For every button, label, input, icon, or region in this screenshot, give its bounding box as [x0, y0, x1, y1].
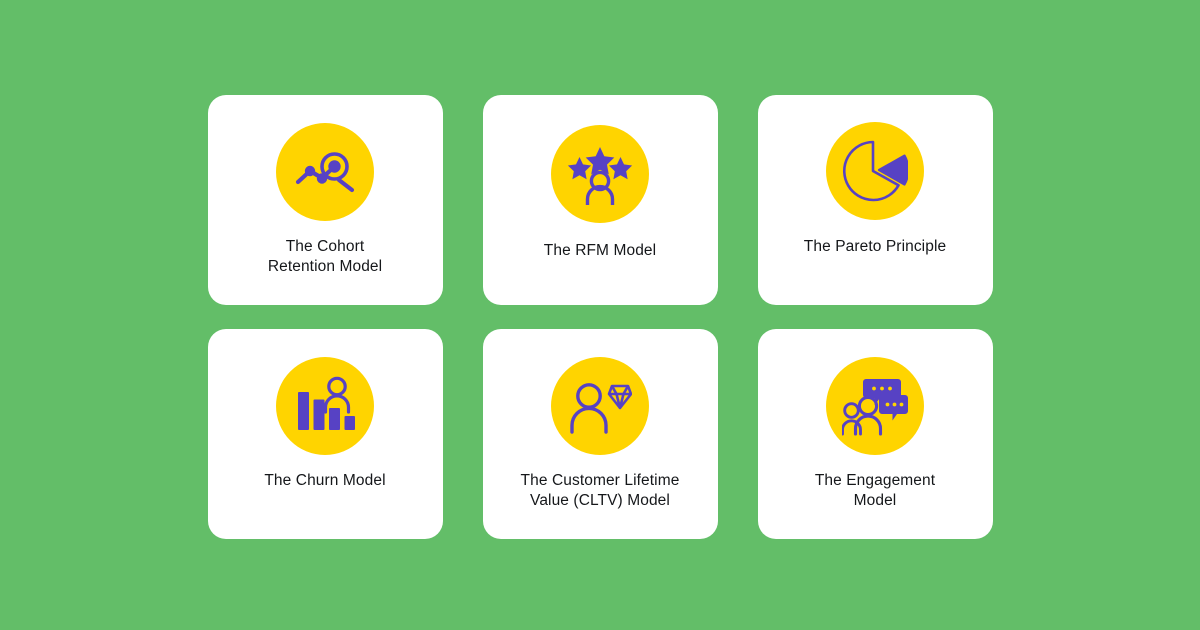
- icon-badge: [551, 125, 649, 223]
- card-customer-lifetime-value-model[interactable]: The Customer Lifetime Value (CLTV) Model: [483, 329, 718, 539]
- star-icon: [568, 147, 632, 179]
- icon-badge: [551, 357, 649, 455]
- line-chart-magnifier-icon: [292, 139, 358, 205]
- card-churn-model[interactable]: The Churn Model: [208, 329, 443, 539]
- card-label: The RFM Model: [544, 241, 656, 261]
- card-label: The Customer Lifetime Value (CLTV) Model: [521, 471, 680, 512]
- model-card-grid: The Cohort Retention Model The RFM Mo: [0, 0, 1200, 630]
- card-rfm-model[interactable]: The RFM Model: [483, 95, 718, 305]
- card-label: The Cohort Retention Model: [268, 237, 382, 278]
- person-icon: [843, 403, 861, 433]
- two-people-speech-bubbles-icon: [842, 375, 908, 437]
- card-cohort-retention-model[interactable]: The Cohort Retention Model: [208, 95, 443, 305]
- icon-badge: [826, 357, 924, 455]
- icon-badge: [276, 123, 374, 221]
- diamond-icon: [609, 386, 631, 408]
- icon-badge: [826, 122, 924, 220]
- card-engagement-model[interactable]: The Engagement Model: [758, 329, 993, 539]
- pie-exploded-slice-icon: [879, 155, 908, 184]
- magnifier-lens-icon: [328, 160, 340, 172]
- person-icon: [572, 384, 606, 431]
- card-label: The Engagement Model: [815, 471, 935, 512]
- card-pareto-principle[interactable]: The Pareto Principle: [758, 95, 993, 305]
- icon-badge: [276, 357, 374, 455]
- poster-canvas: The Cohort Retention Model The RFM Mo: [0, 0, 1200, 630]
- card-label: The Pareto Principle: [804, 237, 946, 257]
- pie-chart-exploded-slice-icon: [842, 140, 908, 202]
- descending-bar-chart-person-icon: [294, 375, 356, 437]
- person-diamond-icon: [568, 377, 632, 435]
- data-point-icon: [305, 165, 315, 175]
- person-icon: [326, 378, 349, 412]
- speech-bubble-icon: [879, 395, 908, 421]
- person-icon: [588, 172, 613, 204]
- card-label: The Churn Model: [264, 471, 385, 491]
- three-stars-person-icon: [567, 143, 633, 205]
